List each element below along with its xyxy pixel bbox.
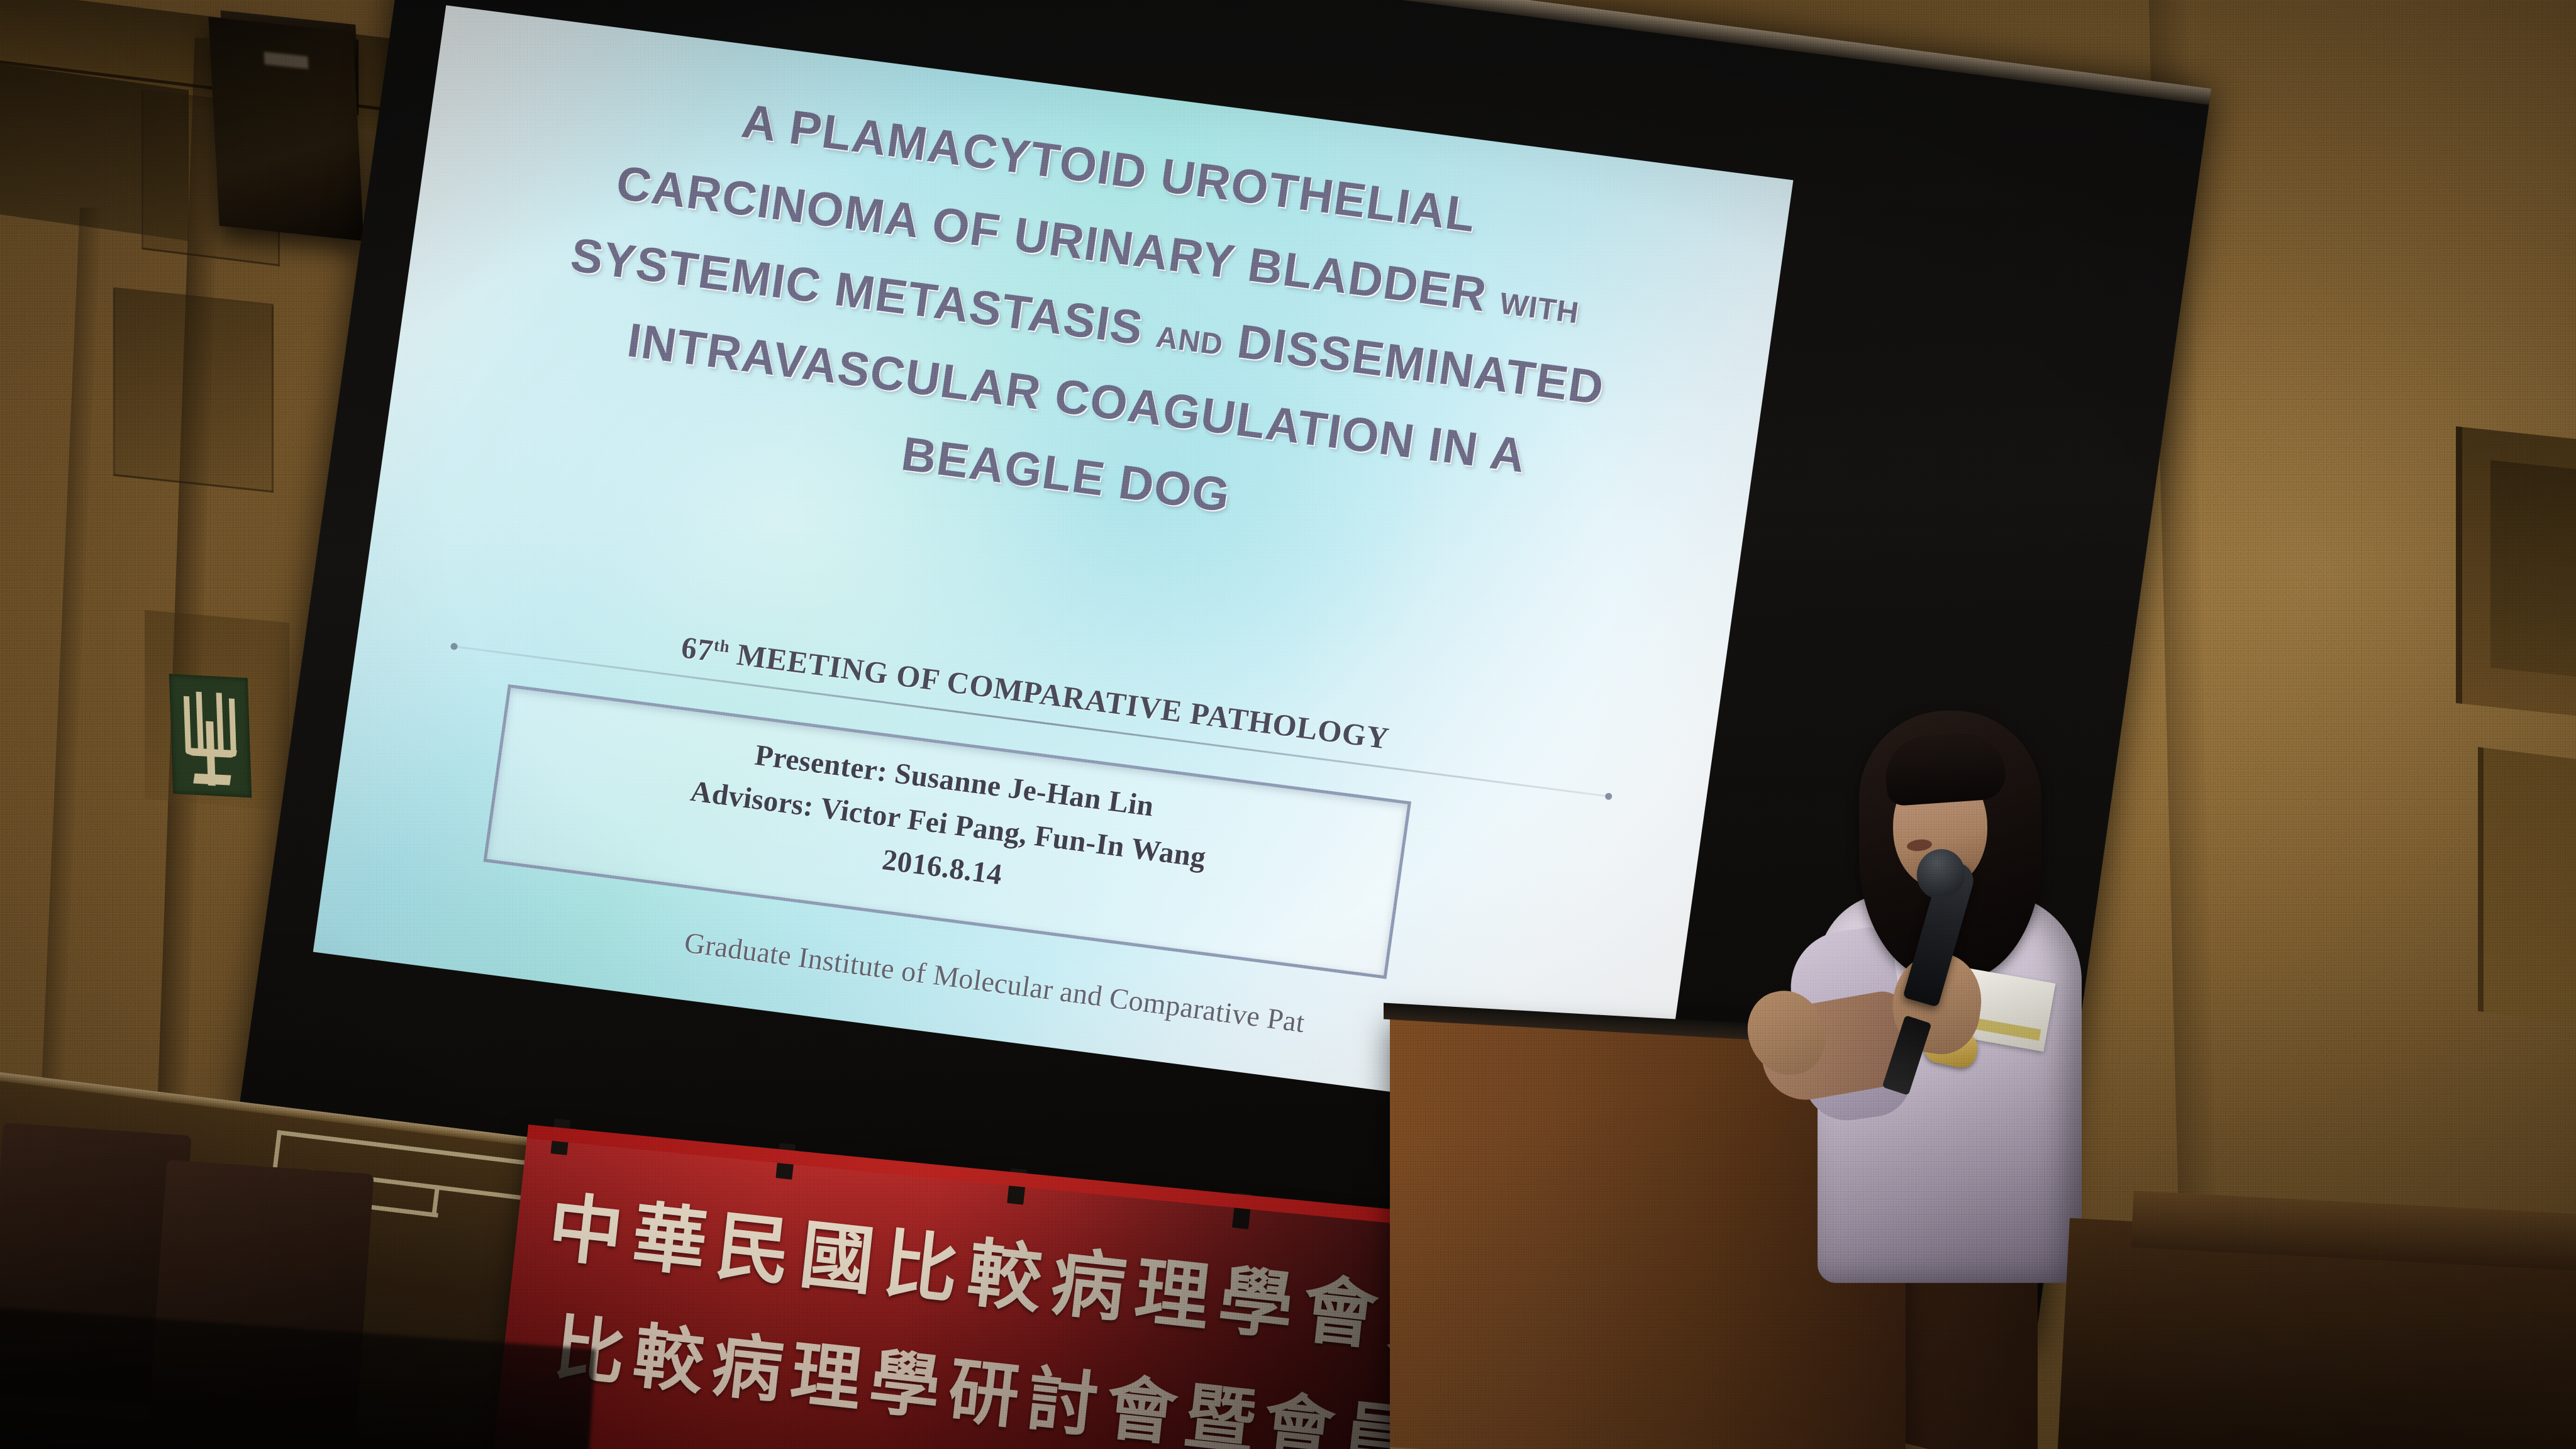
wall-window-inner xyxy=(2490,460,2576,679)
photo-scene: A PLAMACYTOID UROTHELIAL CARCINOMA OF UR… xyxy=(0,0,2576,1449)
meeting-ordinal: 67 xyxy=(679,630,716,668)
wall-panel-lower-right xyxy=(2478,747,2576,1027)
presenter-person xyxy=(1736,704,2126,1270)
meeting-ordinal-suffix: th xyxy=(713,635,731,656)
wall-recess-panel xyxy=(113,287,274,493)
menorah-icon xyxy=(169,674,252,797)
slide-title-line-2-with: WITH xyxy=(1497,287,1581,330)
loudspeaker-icon xyxy=(209,17,364,241)
projected-slide: A PLAMACYTOID UROTHELIAL CARCINOMA OF UR… xyxy=(313,5,1794,1126)
slide-title-line-3-and: AND xyxy=(1154,321,1225,362)
